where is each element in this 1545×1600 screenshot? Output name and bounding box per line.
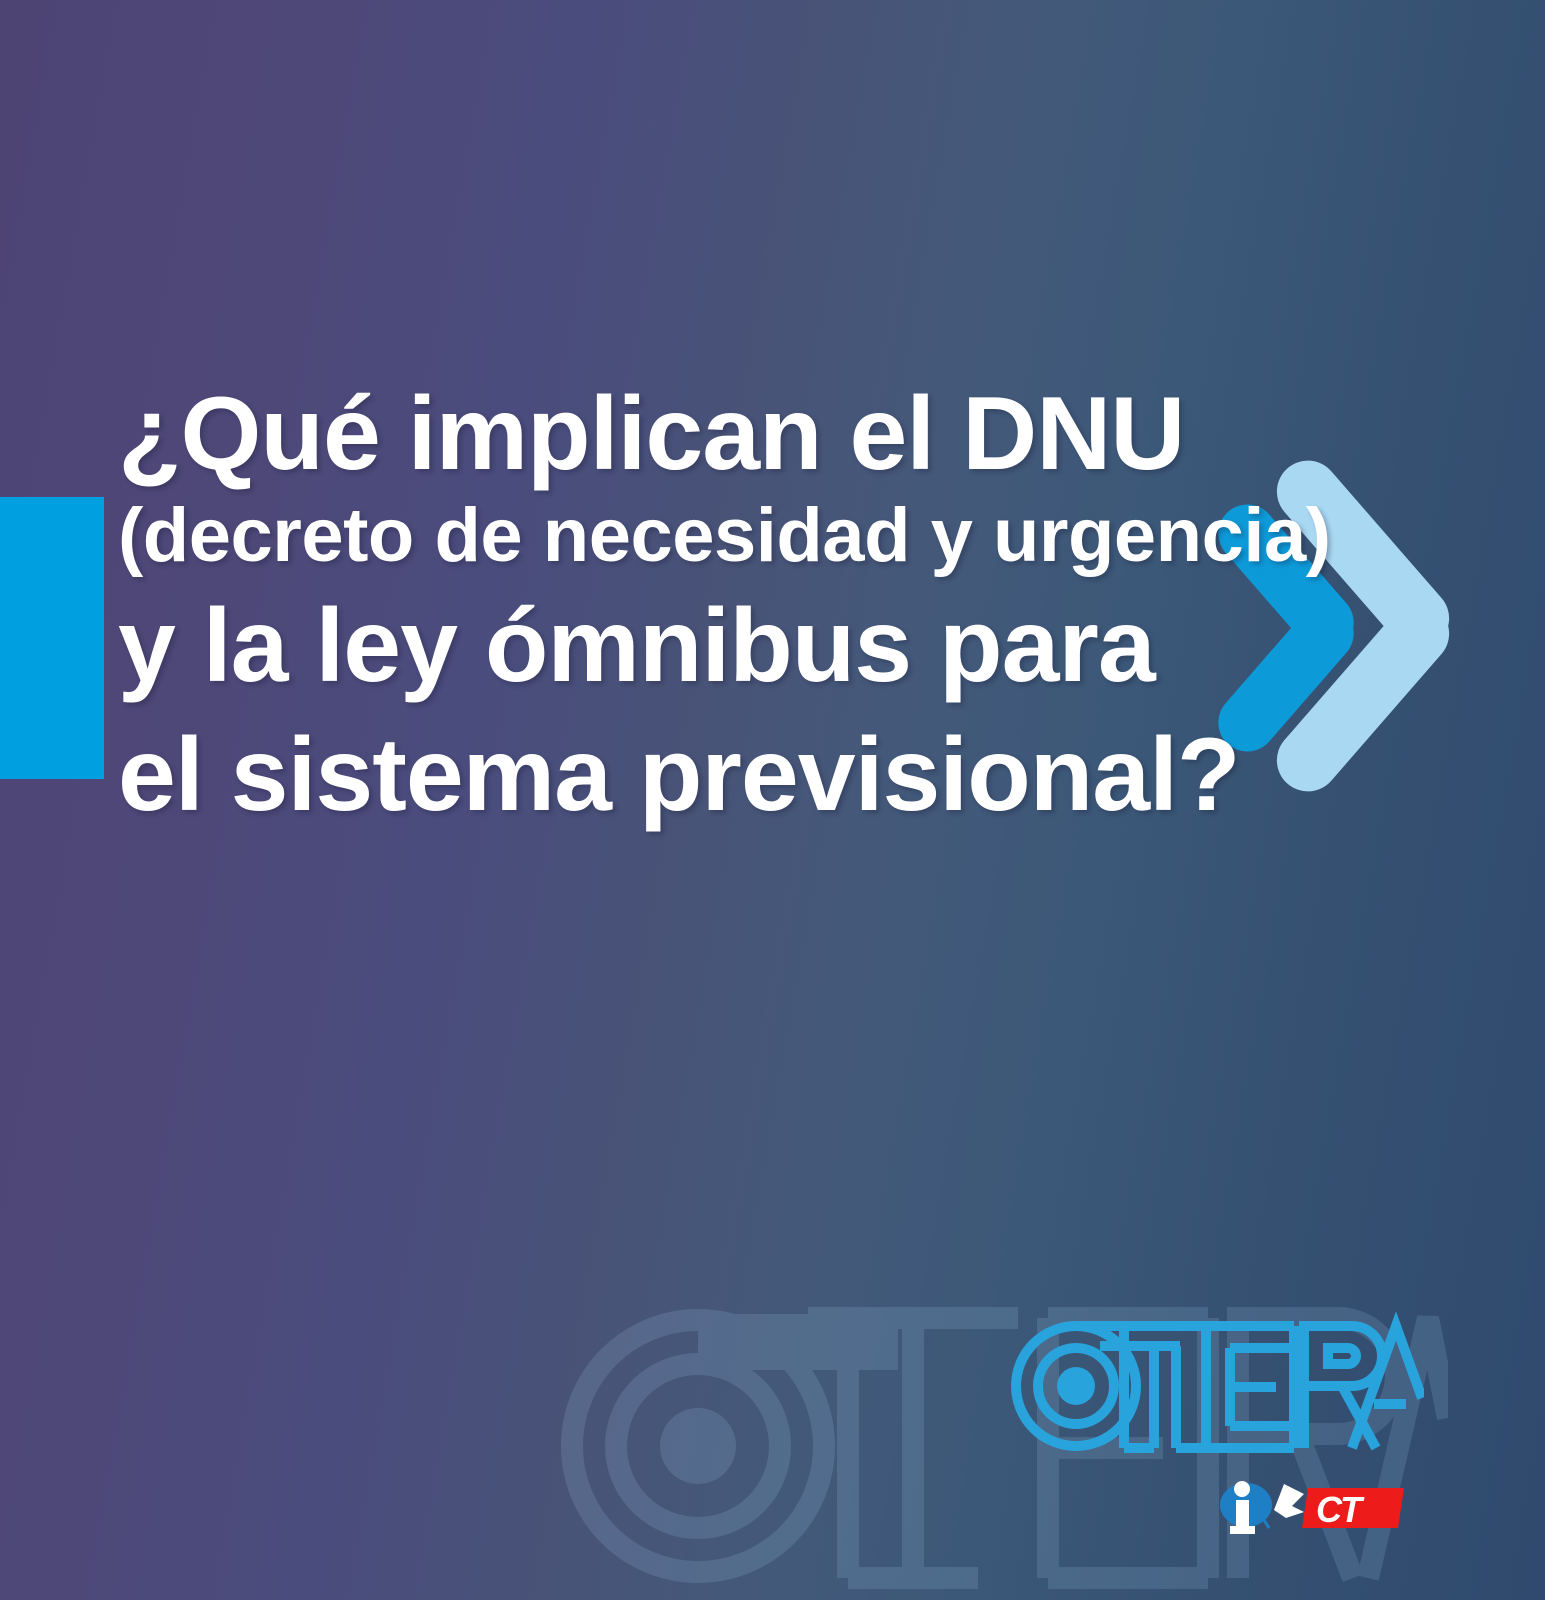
left-accent-bar (0, 497, 104, 779)
svg-text:A: A (1361, 1489, 1387, 1530)
poster-canvas: ¿Qué implican el DNU (decreto de necesid… (0, 0, 1545, 1600)
svg-text:C: C (1316, 1489, 1343, 1530)
headline-line-2: (decreto de necesidad y urgencia) (118, 490, 1418, 582)
headline-line-1: ¿Qué implican el DNU (118, 378, 1418, 490)
ctera-logo (1004, 1302, 1424, 1462)
headline-block: ¿Qué implican el DNU (decreto de necesid… (118, 378, 1418, 840)
headline-line-3: y la ley ómnibus para (118, 582, 1418, 710)
headline-line-4: el sistema previsional? (118, 710, 1418, 840)
cta-logo: C T A (1212, 1472, 1408, 1544)
